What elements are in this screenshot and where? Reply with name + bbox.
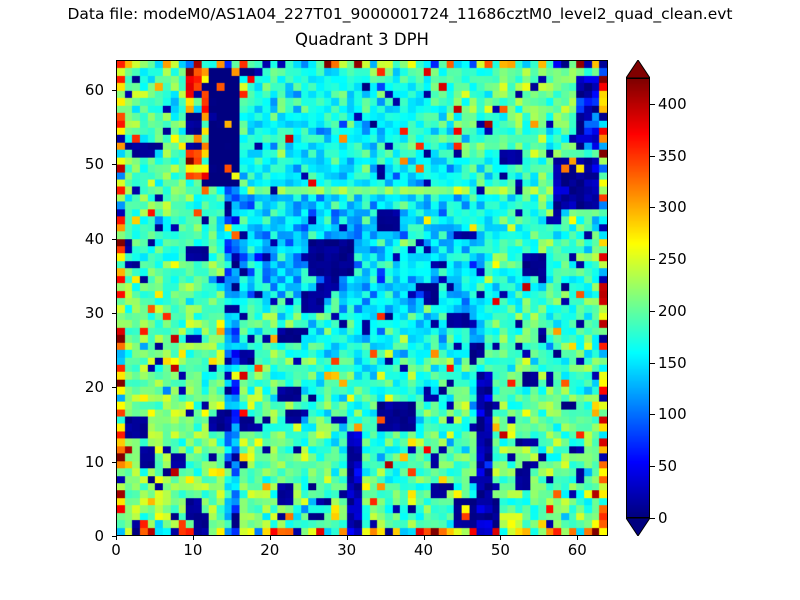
x-tick-label: 30 <box>317 541 377 559</box>
colorbar-tick-label: 0 <box>658 509 668 527</box>
axes-title: Quadrant 3 DPH <box>116 30 608 49</box>
colorbar-tick-label: 50 <box>658 457 677 475</box>
x-tick-mark <box>347 536 348 540</box>
x-tick-mark <box>500 536 501 540</box>
y-tick-label: 0 <box>44 527 104 545</box>
colorbar-tick-mark <box>650 156 655 157</box>
colorbar-tick-mark <box>650 466 655 467</box>
x-tick-mark <box>270 536 271 540</box>
y-tick-mark <box>112 239 116 240</box>
y-tick-label: 20 <box>44 378 104 396</box>
y-tick-label: 30 <box>44 304 104 322</box>
colorbar-extend-min-arrow <box>626 518 650 536</box>
colorbar-tick-label: 150 <box>658 354 687 372</box>
colorbar-tick-mark <box>650 518 655 519</box>
heatmap-axes <box>116 60 608 536</box>
y-tick-label: 60 <box>44 81 104 99</box>
colorbar-extend-max-arrow <box>626 60 650 78</box>
colorbar-tick-mark <box>650 104 655 105</box>
x-tick-label: 20 <box>240 541 300 559</box>
y-tick-mark <box>112 313 116 314</box>
figure-suptitle: Data file: modeM0/AS1A04_227T01_90000017… <box>0 5 800 23</box>
colorbar-tick-label: 400 <box>658 95 687 113</box>
x-tick-mark <box>577 536 578 540</box>
x-tick-label: 10 <box>163 541 223 559</box>
colorbar-tick-mark <box>650 363 655 364</box>
heatmap-image <box>117 61 607 535</box>
x-tick-label: 50 <box>470 541 530 559</box>
y-tick-label: 40 <box>44 230 104 248</box>
x-tick-mark <box>116 536 117 540</box>
colorbar-tick-mark <box>650 414 655 415</box>
y-tick-label: 50 <box>44 155 104 173</box>
y-tick-mark <box>112 387 116 388</box>
matplotlib-figure: Data file: modeM0/AS1A04_227T01_90000017… <box>0 0 800 600</box>
x-tick-mark <box>424 536 425 540</box>
y-tick-mark <box>112 164 116 165</box>
colorbar-tick-label: 100 <box>658 405 687 423</box>
y-tick-mark <box>112 462 116 463</box>
y-tick-label: 10 <box>44 453 104 471</box>
colorbar-tick-label: 200 <box>658 302 687 320</box>
x-tick-label: 40 <box>394 541 454 559</box>
colorbar-gradient <box>626 78 650 518</box>
colorbar-tick-label: 350 <box>658 147 687 165</box>
x-tick-mark <box>193 536 194 540</box>
colorbar <box>626 60 650 536</box>
x-tick-label: 60 <box>547 541 607 559</box>
colorbar-tick-mark <box>650 259 655 260</box>
y-tick-mark <box>112 90 116 91</box>
colorbar-tick-label: 250 <box>658 250 687 268</box>
y-tick-mark <box>112 536 116 537</box>
colorbar-tick-mark <box>650 207 655 208</box>
colorbar-tick-label: 300 <box>658 198 687 216</box>
colorbar-tick-mark <box>650 311 655 312</box>
